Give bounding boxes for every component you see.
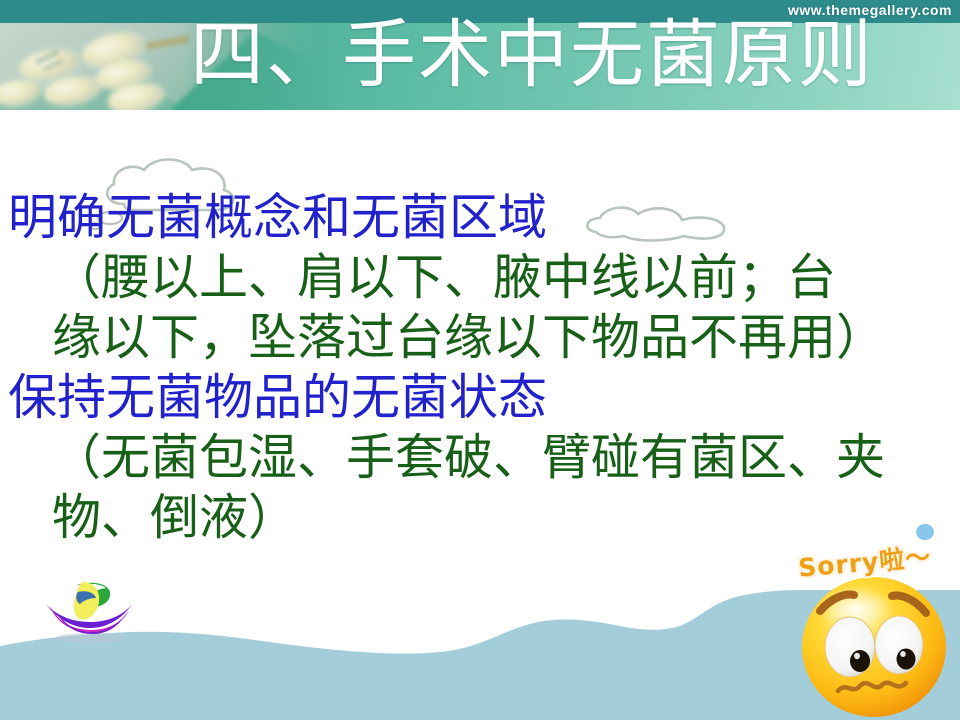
detail-line-1a: （腰以上、肩以下、腋中线以前；台 — [8, 248, 952, 308]
slide-body: 明确无菌概念和无菌区域 （腰以上、肩以下、腋中线以前；台 缘以下，坠落过台缘以下… — [8, 188, 952, 548]
slide-header: 四、手术中无菌原则 www.themegallery.com — [0, 0, 960, 110]
sailboat-logo — [36, 578, 140, 644]
detail-line-2a: （无菌包湿、手套破、臂碰有菌区、夹 — [8, 428, 952, 488]
page-title: 四、手术中无菌原则 — [190, 6, 960, 106]
heading-line-1: 明确无菌概念和无菌区域 — [8, 188, 952, 248]
worried-face-emoji: Sorry啦～ — [788, 543, 960, 720]
heading-line-2: 保持无菌物品的无菌状态 — [8, 368, 952, 428]
detail-line-2b: 物、倒液） — [8, 488, 952, 548]
emoji-face-graphic — [794, 569, 954, 719]
watermark-text: www.themegallery.com — [788, 2, 952, 18]
slide-canvas: 四、手术中无菌原则 www.themegallery.com 明确无菌概念和无菌… — [0, 0, 960, 720]
detail-line-1b: 缘以下，坠落过台缘以下物品不再用） — [8, 308, 952, 368]
